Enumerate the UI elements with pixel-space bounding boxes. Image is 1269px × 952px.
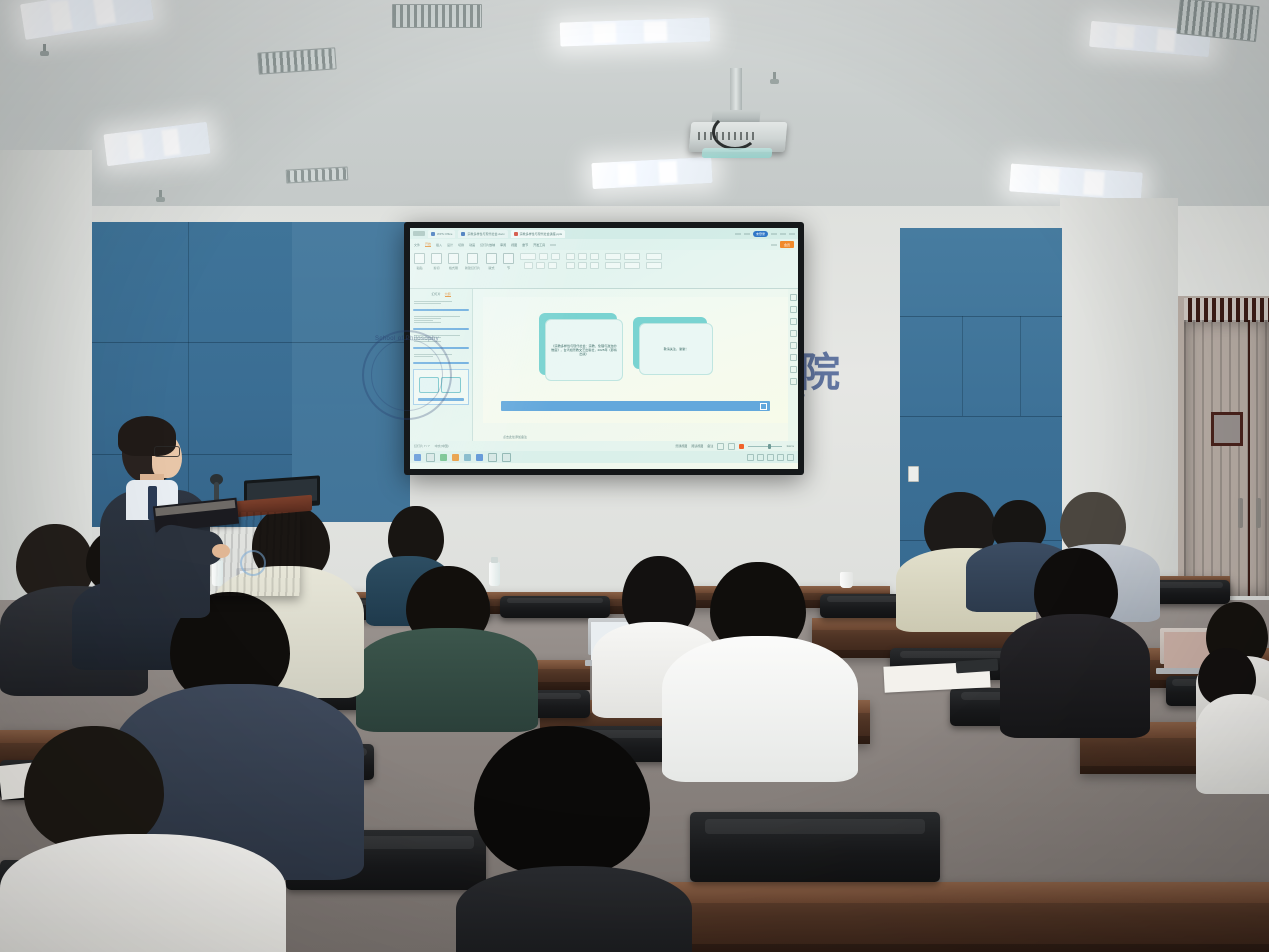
ribbon-label: 新建幻灯片: [465, 266, 480, 270]
font-color-icon[interactable]: [548, 262, 557, 269]
card-text: 敬请关注，谢谢！: [639, 323, 713, 375]
window-tab-label: WPS Office: [437, 232, 452, 236]
menu-item-animations[interactable]: 动画: [469, 243, 475, 247]
ribbon-group-editing[interactable]: [646, 253, 662, 269]
menu-item-section[interactable]: 章节: [522, 243, 528, 247]
align-left-icon[interactable]: [590, 253, 599, 260]
projection-screen-frame: WPS Office 宗教多样性与现代社会.docx 宗教多样性与现代社会讲座.…: [404, 222, 804, 475]
font-size-select[interactable]: [539, 253, 548, 260]
battery-icon[interactable]: [767, 454, 774, 461]
paragraph-controls-row-2: [566, 262, 599, 269]
comments-icon[interactable]: [790, 378, 797, 385]
fire-sprinkler-head: [770, 72, 779, 85]
chair-back: [690, 812, 940, 882]
status-right-group: 普通视图 阅读视图 备注 100%: [675, 443, 794, 450]
desk-row-foreground: [600, 882, 1269, 952]
zoom-slider[interactable]: [748, 446, 782, 447]
outline-divider: [413, 309, 469, 311]
menu-item-design[interactable]: 设计: [447, 243, 453, 247]
bullet-list-icon[interactable]: [566, 253, 575, 260]
member-button[interactable]: 会员: [780, 241, 794, 248]
document-icon: [461, 232, 465, 236]
format-painter-icon: [448, 253, 459, 264]
window-tab-document[interactable]: 宗教多样性与现代社会.docx: [458, 230, 507, 238]
recessed-fluorescent-light: [103, 122, 210, 166]
scissors-icon: [431, 253, 442, 264]
image-library-icon[interactable]: [790, 330, 797, 337]
editing-controls-row: [646, 253, 662, 260]
ribbon-label: 节: [507, 266, 510, 270]
lecture-hall-photo: School of Philosophy 院 ity WPS Office 宗教…: [0, 0, 1269, 952]
slide-editing-area[interactable]: 《宗教多样性与现代社会：宗教、伦理与政治的维度》，台湾旭景教文艺出版社，2025…: [473, 289, 798, 441]
templates-icon[interactable]: [790, 318, 797, 325]
ribbon-label: 版式: [489, 266, 495, 270]
attendee-torso: [456, 866, 692, 952]
file-explorer-icon[interactable]: [452, 454, 459, 461]
outline-item[interactable]: [412, 315, 470, 324]
reading-view-icon[interactable]: [728, 443, 735, 450]
recessed-fluorescent-light: [560, 17, 711, 46]
attendee-green-shirt: [356, 566, 538, 716]
notes-placeholder[interactable]: 点击此处添加备注: [503, 435, 527, 439]
window-tab-presentation[interactable]: 宗教多样性与现代社会讲座.pptx: [511, 230, 566, 238]
menu-item-file[interactable]: 文件: [414, 243, 420, 247]
tab-slides[interactable]: 幻灯片: [431, 292, 440, 297]
titlebar-right-group: 未登录: [735, 231, 795, 237]
attendee-black-tee: [1000, 548, 1150, 728]
ribbon-group-cut[interactable]: 剪切: [431, 253, 442, 270]
wall-chinese-mark: 院: [800, 340, 840, 398]
light-switch[interactable]: [908, 466, 919, 482]
maximize-icon[interactable]: [780, 231, 786, 237]
ribbon-group-section[interactable]: 节: [503, 253, 514, 270]
attendee-white-blouse-laptop: [1196, 648, 1269, 778]
view-mode-notes[interactable]: 备注: [707, 444, 713, 448]
menu-item-developer[interactable]: 开发工具: [533, 243, 545, 247]
font-controls-row: [520, 253, 560, 260]
lectern-emblem: [240, 550, 266, 576]
browser-icon[interactable]: [464, 454, 471, 461]
numbered-list-icon[interactable]: [578, 253, 587, 260]
projector-lens-glow: [702, 148, 773, 158]
attendee-head: [24, 726, 164, 850]
wps-logo-icon: [413, 231, 425, 236]
section-icon: [503, 253, 514, 264]
slide-accent-bar[interactable]: [501, 401, 770, 411]
close-icon[interactable]: [789, 231, 795, 237]
outline-item[interactable]: [412, 300, 470, 305]
ribbon-group-new-slide[interactable]: 新建幻灯片: [465, 253, 480, 270]
window-tab-label: 宗教多样性与现代社会讲座.pptx: [520, 232, 563, 236]
design-ideas-icon[interactable]: [790, 294, 797, 301]
grid-view-icon[interactable]: [717, 443, 724, 450]
drawing-controls-row-2: [605, 262, 640, 269]
shape-fill-icon[interactable]: [605, 253, 621, 260]
door-handle[interactable]: [1256, 498, 1261, 528]
chart-icon[interactable]: [790, 342, 797, 349]
system-tray: [747, 454, 794, 461]
wps-logo-icon: [431, 232, 435, 236]
font-family-select[interactable]: [520, 253, 536, 260]
language-indicator[interactable]: 中文(中国): [435, 444, 449, 448]
editing-controls-row-2: [646, 262, 662, 269]
presenter-hand: [212, 544, 230, 558]
paste-icon: [414, 253, 425, 264]
ribbon-group-layout[interactable]: 版式: [486, 253, 497, 270]
shape-outline-icon[interactable]: [624, 253, 640, 260]
underline-icon[interactable]: [536, 262, 545, 269]
slideshow-record-icon[interactable]: [739, 444, 744, 449]
volume-icon[interactable]: [757, 454, 764, 461]
drawing-controls-row: [605, 253, 640, 260]
menu-item-view[interactable]: 视图: [511, 243, 517, 247]
attendee-torso: [1000, 614, 1150, 738]
door-handle[interactable]: [1238, 498, 1243, 528]
door-center-split: [1248, 320, 1250, 596]
columns-icon[interactable]: [590, 262, 599, 269]
school-seal-text: School of Philosophy: [375, 336, 439, 342]
ribbon-group-font[interactable]: [520, 253, 560, 269]
slide-canvas[interactable]: 《宗教多样性与现代社会：宗教、伦理与政治的维度》，台湾旭景教文艺出版社，2025…: [483, 297, 788, 423]
fire-sprinkler-head: [156, 190, 165, 203]
presenter: [96, 418, 216, 618]
app-body: 幻灯片 大纲: [410, 289, 798, 441]
ribbon-group-drawing[interactable]: [605, 253, 640, 269]
shape-effects-icon[interactable]: [605, 262, 621, 269]
slide-indicator: 幻灯片 7 / 7: [414, 444, 430, 448]
ribbon-group-format-painter[interactable]: 格式刷: [448, 253, 459, 270]
window-tab-wps[interactable]: WPS Office: [428, 230, 455, 238]
bold-icon[interactable]: [551, 253, 560, 260]
share-icon[interactable]: [735, 231, 741, 237]
menubar-right-group: 会员: [771, 241, 794, 248]
cloud-icon[interactable]: [744, 231, 750, 237]
line-spacing-icon[interactable]: [578, 262, 587, 269]
window-tab-label: 宗教多样性与现代社会.docx: [467, 232, 504, 236]
right-tool-rail: [788, 289, 798, 446]
minimize-icon[interactable]: [771, 231, 777, 237]
attendee-torso: [356, 628, 538, 732]
card-text: 《宗教多样性与现代社会：宗教、伦理与政治的维度》，台湾旭景教文艺出版社，2025…: [545, 319, 623, 381]
menu-item-slideshow[interactable]: 幻灯片放映: [480, 243, 495, 247]
attendee-black-hair-foreground-center: [456, 726, 692, 952]
app-titlebar: WPS Office 宗教多样性与现代社会.docx 宗教多样性与现代社会讲座.…: [410, 228, 798, 239]
ribbon-label: 格式刷: [449, 266, 458, 270]
notifications-icon[interactable]: [787, 454, 794, 461]
fire-sprinkler-head: [40, 44, 49, 57]
status-bar: 幻灯片 7 / 7 中文(中国) 普通视图 阅读视图 备注 100%: [410, 441, 798, 451]
hvac-ceiling-diffuser: [286, 166, 349, 183]
view-mode-reading[interactable]: 阅读视图: [691, 444, 703, 448]
classroom-door[interactable]: [1184, 320, 1269, 596]
projected-desktop: WPS Office 宗教多样性与现代社会.docx 宗教多样性与现代社会讲座.…: [410, 228, 798, 469]
resize-handle[interactable]: [760, 403, 767, 410]
slide-card-publication[interactable]: 《宗教多样性与现代社会：宗教、伦理与政治的维度》，台湾旭景教文艺出版社，2025…: [545, 319, 623, 381]
task-view-icon[interactable]: [440, 454, 447, 461]
layout-icon: [486, 253, 497, 264]
hvac-ceiling-diffuser: [257, 47, 336, 74]
recessed-fluorescent-light: [1009, 163, 1143, 200]
outline-pane-tabs: 幻灯片 大纲: [412, 292, 470, 297]
resources-icon[interactable]: [790, 306, 797, 313]
arrange-icon[interactable]: [624, 262, 640, 269]
zoom-slider-knob[interactable]: [768, 444, 771, 449]
attendee-head: [474, 726, 650, 876]
search-icon[interactable]: [550, 242, 556, 248]
paragraph-controls-row: [566, 253, 599, 260]
find-icon[interactable]: [646, 253, 662, 260]
door-viewing-window: [1211, 412, 1243, 446]
align-center-icon[interactable]: [566, 262, 575, 269]
cloud-icon[interactable]: [502, 453, 511, 462]
shapes-icon[interactable]: [790, 354, 797, 361]
ribbon-group-paragraph[interactable]: [566, 253, 599, 269]
start-icon[interactable]: [414, 454, 421, 461]
windows-taskbar: [410, 451, 798, 463]
school-seal-logo: School of Philosophy: [362, 330, 452, 420]
view-mode-normal[interactable]: 普通视图: [675, 444, 687, 448]
attendee-torso: [1196, 694, 1269, 794]
ribbon-label: 剪切: [433, 266, 439, 270]
wps-icon[interactable]: [488, 453, 497, 462]
attendee-torso: [0, 834, 286, 952]
account-button[interactable]: 未登录: [753, 231, 768, 237]
menu-item-home[interactable]: 开始: [425, 242, 431, 247]
recessed-fluorescent-light: [20, 0, 154, 40]
menu-item-insert[interactable]: 插入: [436, 243, 442, 247]
outline-divider: [413, 328, 469, 330]
door-transom-louver: [1184, 298, 1269, 322]
search-icon[interactable]: [426, 453, 435, 462]
eyeglasses-icon: [154, 446, 180, 457]
menu-item-review[interactable]: 审阅: [500, 243, 506, 247]
icons-icon[interactable]: [790, 366, 797, 373]
app-menubar: 文件 开始 插入 设计 切换 动画 幻灯片放映 审阅 视图 章节 开发工具 会员: [410, 239, 798, 250]
water-bottle: [489, 562, 500, 586]
ceiling-mounted-projector: [690, 120, 786, 162]
italic-icon[interactable]: [524, 262, 533, 269]
menu-item-transitions[interactable]: 切换: [458, 243, 464, 247]
new-slide-icon: [467, 253, 478, 264]
attendee-white-tee-foreground: [0, 726, 286, 952]
network-icon[interactable]: [747, 454, 754, 461]
presentation-icon: [514, 232, 518, 236]
ime-icon[interactable]: [777, 454, 784, 461]
tab-outline[interactable]: 大纲: [445, 292, 451, 297]
ribbon-label: 粘贴: [416, 266, 422, 270]
app-ribbon: 粘贴 剪切 格式刷 新建幻灯片 版式 节: [410, 250, 798, 289]
help-icon[interactable]: [771, 242, 777, 248]
hvac-ceiling-diffuser: [392, 4, 482, 28]
mail-icon[interactable]: [476, 454, 483, 461]
ribbon-group-paste[interactable]: 粘贴: [414, 253, 425, 270]
replace-icon[interactable]: [646, 262, 662, 269]
font-controls-row-2: [524, 262, 557, 269]
slide-card-thanks[interactable]: 敬请关注，谢谢！: [639, 323, 713, 375]
